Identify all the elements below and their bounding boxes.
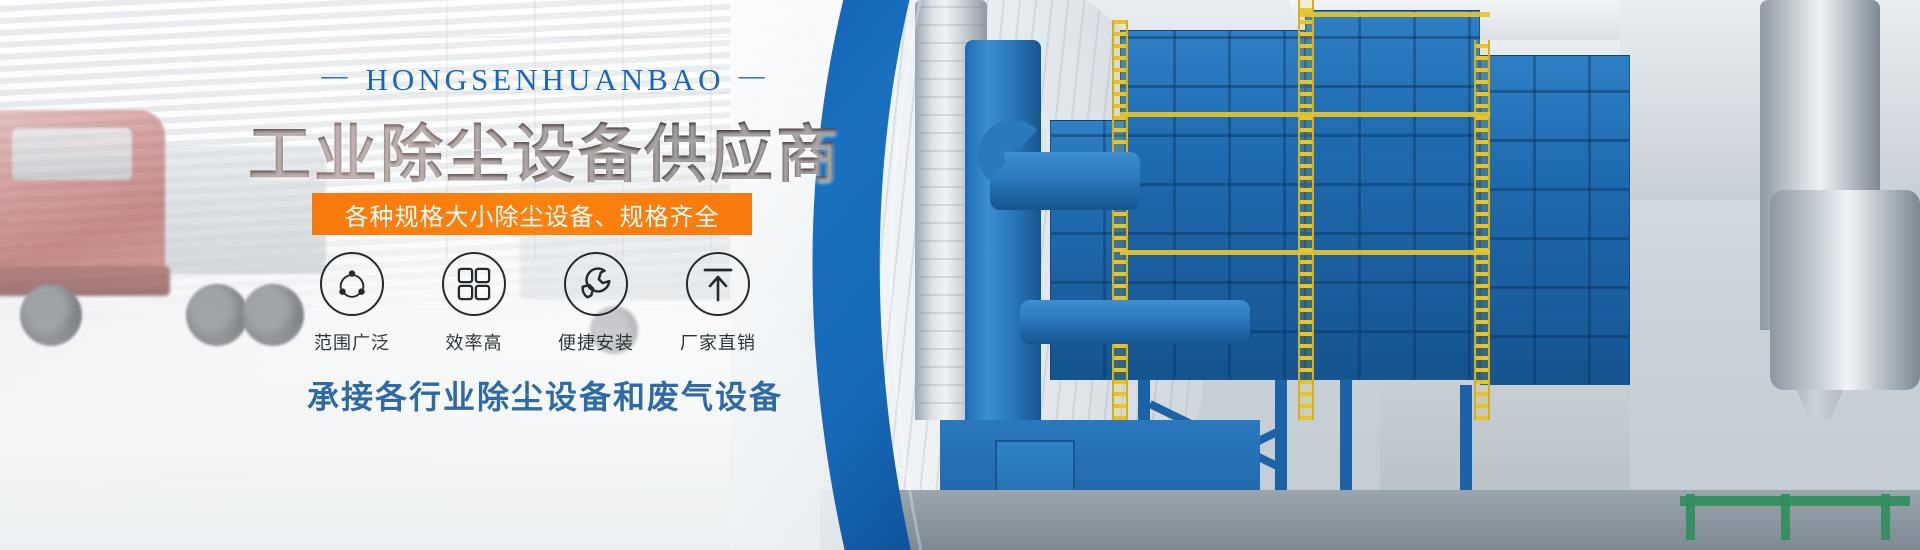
baghouse-module-3	[1480, 55, 1630, 385]
feature-item-1[interactable]: 范围广泛	[300, 252, 404, 355]
green-fence-post-3	[1686, 494, 1695, 540]
access-ladder-2	[1298, 0, 1314, 420]
network-nodes-icon	[320, 252, 384, 316]
green-fence-post-2	[1781, 494, 1790, 540]
arrow-up-icon	[686, 252, 750, 316]
baghouse-module-2	[1305, 10, 1480, 380]
promo-banner: —HONGSENHUANBAO— 工业除尘设备供应商 各种规格大小除尘设备、规格…	[0, 0, 1920, 550]
feature-list: 范围广泛 效率高	[300, 252, 770, 355]
dash-right-icon: —	[725, 61, 783, 91]
green-fence-post-1	[1881, 494, 1890, 540]
green-fence-rail	[1680, 496, 1910, 506]
network-nodes-glyph	[333, 265, 371, 303]
wrench-glyph	[577, 265, 615, 303]
dash-left-icon: —	[307, 61, 365, 91]
access-ladder-3	[1474, 40, 1490, 420]
wrench-icon	[564, 252, 628, 316]
banner-content: —HONGSENHUANBAO— 工业除尘设备供应商 各种规格大小除尘设备、规格…	[0, 0, 1080, 550]
feature-item-4[interactable]: 厂家直销	[666, 252, 770, 355]
feature-label-3: 便捷安装	[558, 329, 634, 355]
platform-rail-2	[1120, 250, 1490, 255]
feature-item-2[interactable]: 效率高	[422, 252, 526, 355]
access-ladder-1	[1112, 20, 1128, 420]
feature-label-4: 厂家直销	[680, 329, 756, 355]
feature-label-2: 效率高	[446, 329, 503, 355]
eyebrow-label: HONGSENHUANBAO	[365, 62, 724, 97]
subtitle-bar: 各种规格大小除尘设备、规格齐全	[312, 193, 752, 235]
page-title: 工业除尘设备供应商	[0, 104, 1090, 195]
platform-rail-3	[1300, 12, 1490, 17]
grid-squares-icon	[442, 252, 506, 316]
grid-squares-glyph	[457, 267, 491, 301]
subtitle-text: 各种规格大小除尘设备、规格齐全	[345, 197, 720, 232]
eyebrow-text: —HONGSENHUANBAO—	[0, 62, 1090, 98]
feature-label-1: 范围广泛	[314, 329, 390, 355]
feature-item-3[interactable]: 便捷安装	[544, 252, 648, 355]
arrow-up-glyph	[701, 266, 735, 302]
horizontal-tank	[1770, 190, 1920, 390]
platform-rail-1	[1120, 112, 1490, 117]
tagline-text: 承接各行业除尘设备和废气设备	[0, 372, 1090, 418]
